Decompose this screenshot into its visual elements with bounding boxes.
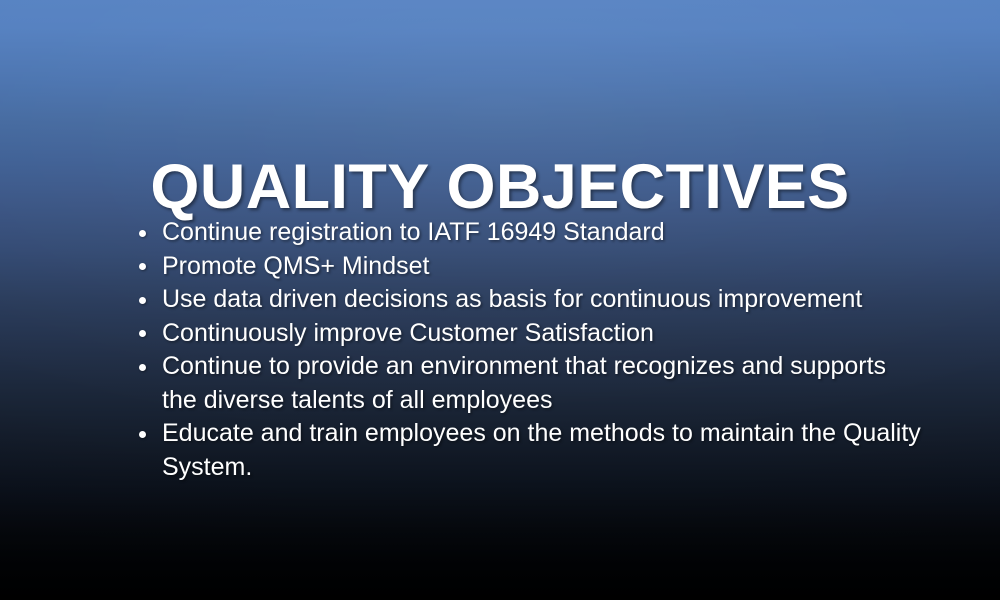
- list-item: Continue registration to IATF 16949 Stan…: [136, 216, 926, 250]
- presentation-slide: QUALITY OBJECTIVES Continue registration…: [0, 0, 1000, 600]
- bullet-dot-icon: [139, 431, 146, 438]
- list-item: Continuously improve Customer Satisfacti…: [136, 317, 926, 351]
- list-item-label: Use data driven decisions as basis for c…: [162, 283, 926, 317]
- list-item: Educate and train employees on the metho…: [136, 417, 926, 484]
- list-item-label: Continue registration to IATF 16949 Stan…: [162, 216, 926, 250]
- list-item: Promote QMS+ Mindset: [136, 250, 926, 284]
- objectives-bullet-list: Continue registration to IATF 16949 Stan…: [136, 216, 926, 484]
- bullet-dot-icon: [139, 230, 146, 237]
- bullet-dot-icon: [139, 263, 146, 270]
- list-item-label: Continuously improve Customer Satisfacti…: [162, 317, 926, 351]
- list-item-label: Educate and train employees on the metho…: [162, 417, 926, 484]
- bullet-dot-icon: [139, 364, 146, 371]
- bullet-dot-icon: [139, 330, 146, 337]
- list-item-label: Promote QMS+ Mindset: [162, 250, 926, 284]
- list-item: Use data driven decisions as basis for c…: [136, 283, 926, 317]
- bullet-dot-icon: [139, 297, 146, 304]
- list-item-label: Continue to provide an environment that …: [162, 350, 926, 417]
- list-item: Continue to provide an environment that …: [136, 350, 926, 417]
- slide-title: QUALITY OBJECTIVES: [0, 155, 1000, 219]
- slide-content: QUALITY OBJECTIVES Continue registration…: [0, 0, 1000, 600]
